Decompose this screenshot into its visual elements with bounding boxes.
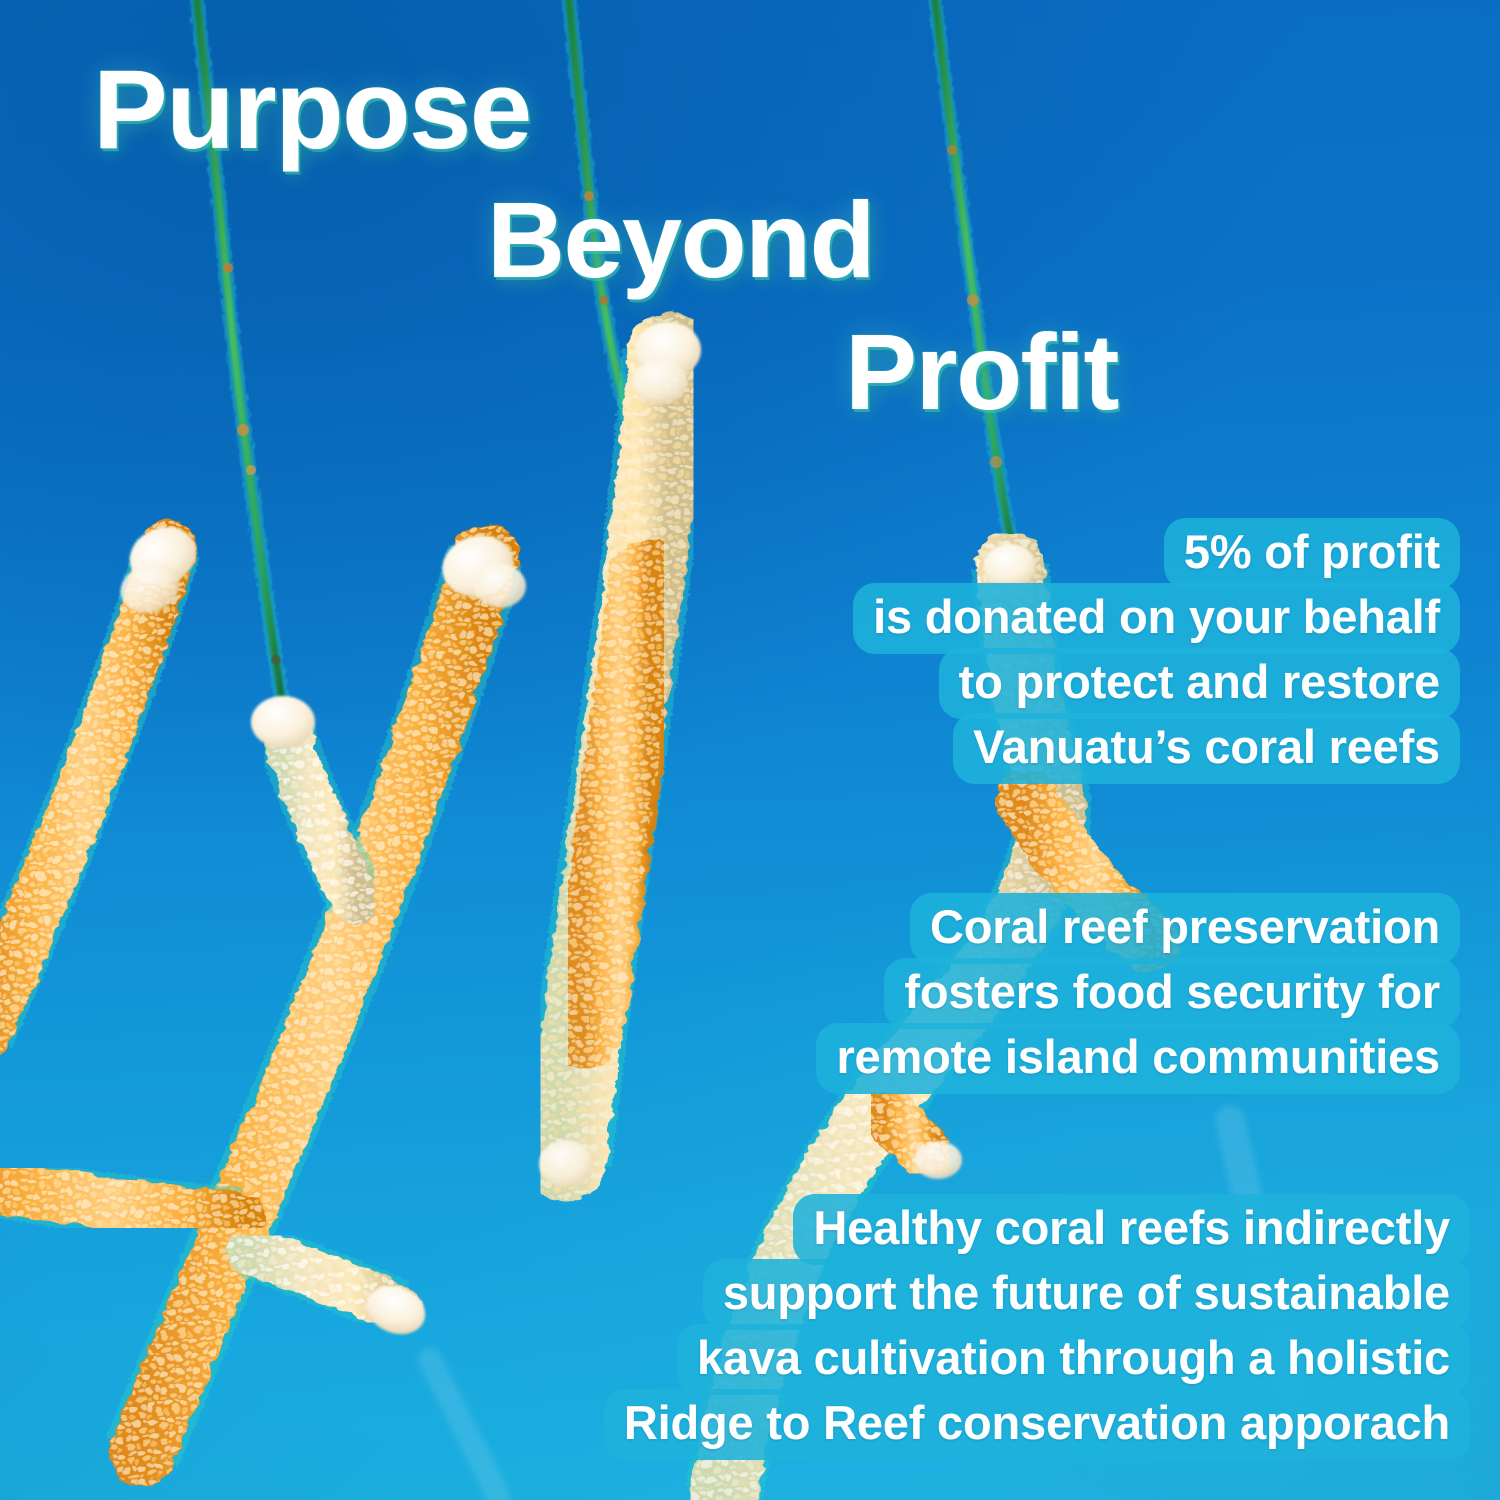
food-security-card-line: remote island communities — [816, 1023, 1460, 1094]
food-security-card-line: fosters food security for — [884, 958, 1460, 1029]
kava-sustainability-card: Healthy coral reefs indirectlysupport th… — [520, 1196, 1470, 1455]
donation-pledge-card-line: 5% of profit — [1164, 518, 1460, 589]
food-security-card-line: Coral reef preservation — [910, 893, 1460, 964]
poster-canvas: Purpose Beyond Profit 5% of profitis don… — [0, 0, 1500, 1500]
hanging-rope-right — [934, 0, 1018, 566]
kava-sustainability-card-line: Ridge to Reef conservation apporach — [604, 1389, 1470, 1460]
card-1-lines: 5% of profitis donated on your behalfto … — [760, 520, 1460, 779]
kava-sustainability-card-line: support the future of sustainable — [703, 1259, 1470, 1330]
donation-pledge-card-line: Vanuatu’s coral reefs — [953, 713, 1460, 784]
coral-branch-left-fork — [0, 527, 526, 1452]
kava-sustainability-card-line: kava cultivation through a holistic — [677, 1324, 1470, 1395]
coral-branch-left-upper — [0, 517, 205, 1034]
kava-sustainability-card-line: Healthy coral reefs indirectly — [793, 1194, 1470, 1265]
card-2-lines: Coral reef preservationfosters food secu… — [790, 895, 1460, 1090]
food-security-card: Coral reef preservationfosters food secu… — [790, 895, 1460, 1090]
donation-pledge-card: 5% of profitis donated on your behalfto … — [760, 520, 1460, 779]
donation-pledge-card-line: to protect and restore — [939, 648, 1460, 719]
card-3-lines: Healthy coral reefs indirectlysupport th… — [520, 1196, 1470, 1455]
hanging-rope-left — [196, 0, 284, 714]
coral-branch-center — [539, 322, 701, 1188]
donation-pledge-card-line: is donated on your behalf — [853, 583, 1460, 654]
